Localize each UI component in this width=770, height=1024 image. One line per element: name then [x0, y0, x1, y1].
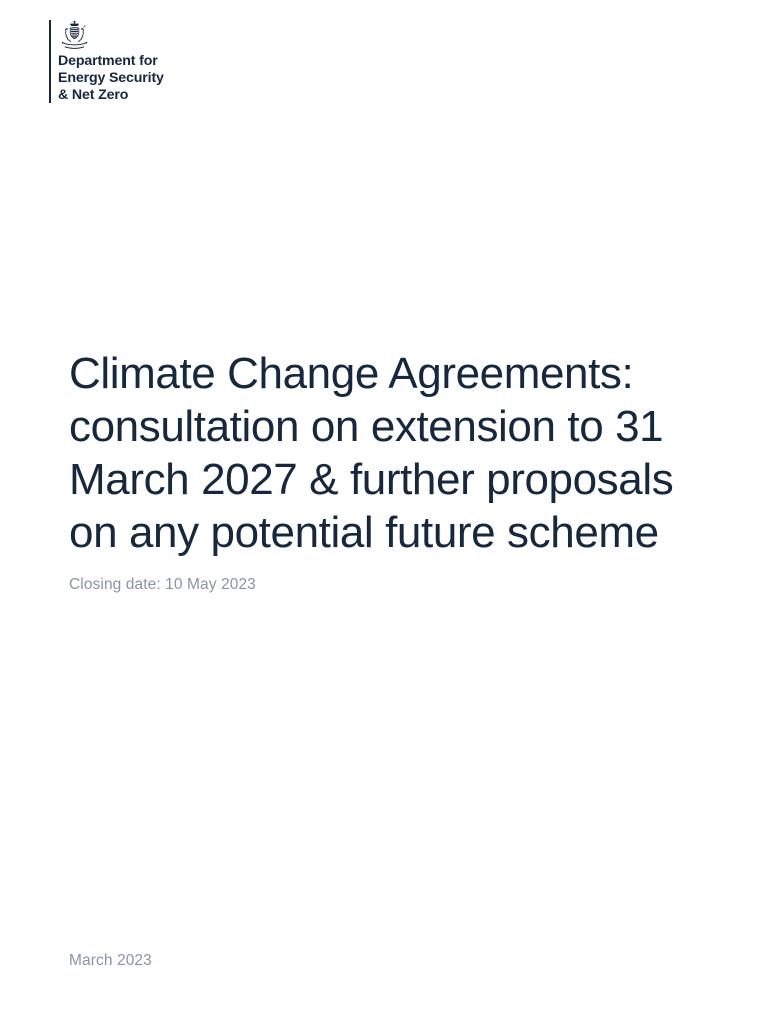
- logo-line-1: Department for: [58, 53, 164, 70]
- logo-line-3: & Net Zero: [58, 87, 164, 104]
- logo-line-2: Energy Security: [58, 70, 164, 87]
- closing-date: Closing date: 10 May 2023: [69, 575, 701, 595]
- royal-coat-of-arms-crest-icon: [58, 20, 91, 49]
- logo-body: Department for Energy Security & Net Zer…: [51, 20, 164, 103]
- title-block: Climate Change Agreements: consultation …: [69, 347, 701, 595]
- document-cover-page: Department for Energy Security & Net Zer…: [0, 0, 770, 1024]
- publication-date: March 2023: [69, 951, 152, 971]
- department-logo: Department for Energy Security & Net Zer…: [49, 20, 164, 103]
- page-title: Climate Change Agreements: consultation …: [69, 347, 701, 559]
